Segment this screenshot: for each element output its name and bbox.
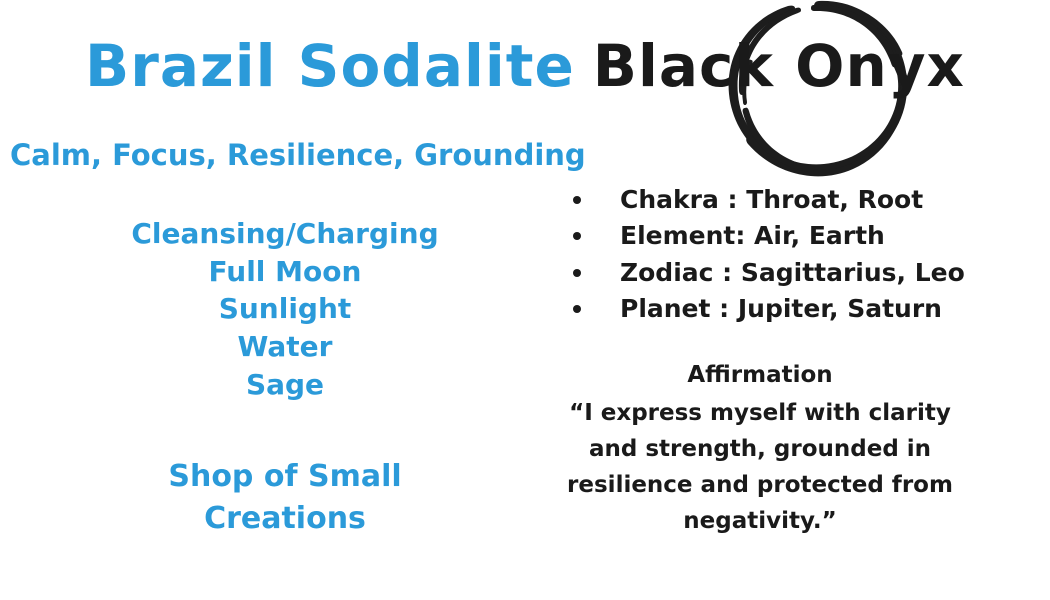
bullet-icon	[573, 196, 581, 204]
title-stone-primary: Brazil Sodalite	[85, 32, 575, 100]
cleansing-section: Cleansing/Charging Full Moon Sunlight Wa…	[10, 215, 560, 404]
attribute-row-element: Element: Air, Earth	[560, 218, 980, 254]
cleansing-heading: Cleansing/Charging	[10, 215, 560, 253]
cleansing-method-full-moon: Full Moon	[10, 253, 560, 291]
right-column: Chakra : Throat, Root Element: Air, Eart…	[560, 182, 980, 540]
attribute-text-planet: Planet : Jupiter, Saturn	[620, 294, 942, 323]
cleansing-method-sage: Sage	[10, 366, 560, 404]
bullet-icon	[573, 232, 581, 240]
bullet-icon	[573, 269, 581, 277]
attribute-text-zodiac: Zodiac : Sagittarius, Leo	[620, 258, 965, 287]
shop-name: Shop of Small Creations	[135, 456, 435, 541]
cleansing-method-sunlight: Sunlight	[10, 290, 560, 328]
title-stone-secondary: Black Onyx	[593, 32, 965, 100]
left-column: Calm, Focus, Resilience, Grounding Clean…	[10, 138, 560, 541]
page-title: Brazil SodaliteBlack Onyx	[0, 36, 1050, 97]
attribute-row-zodiac: Zodiac : Sagittarius, Leo	[560, 255, 980, 291]
attribute-text-element: Element: Air, Earth	[620, 221, 885, 250]
attribute-list: Chakra : Throat, Root Element: Air, Eart…	[560, 182, 980, 327]
shop-name-line-2: Creations	[135, 498, 435, 541]
bullet-icon	[573, 305, 581, 313]
affirmation-section: Affirmation “I express myself with clari…	[560, 357, 960, 540]
shop-name-line-1: Shop of Small	[135, 456, 435, 499]
stone-properties: Calm, Focus, Resilience, Grounding	[10, 138, 560, 173]
attribute-row-chakra: Chakra : Throat, Root	[560, 182, 980, 218]
attribute-text-chakra: Chakra : Throat, Root	[620, 185, 923, 214]
cleansing-method-water: Water	[10, 328, 560, 366]
attribute-row-planet: Planet : Jupiter, Saturn	[560, 291, 980, 327]
crystal-info-card: Brazil SodaliteBlack Onyx Calm, Focus, R…	[0, 0, 1050, 600]
affirmation-label: Affirmation	[560, 357, 960, 393]
affirmation-quote: “I express myself with clarity and stren…	[560, 395, 960, 539]
